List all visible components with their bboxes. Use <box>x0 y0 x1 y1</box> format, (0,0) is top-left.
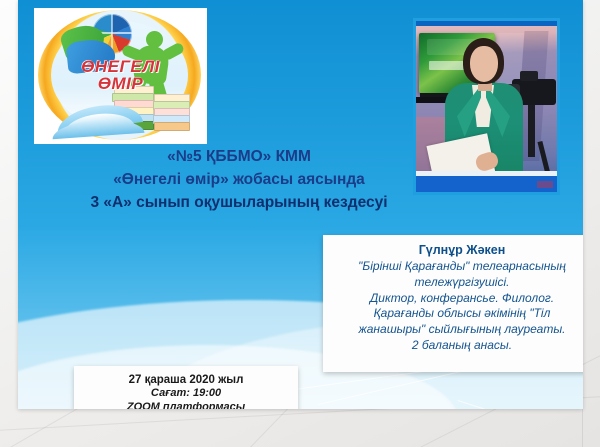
event-date-card: 27 қараша 2020 жыл Сағат: 19:00 ZOOM пла… <box>74 366 298 409</box>
runner-head-icon <box>146 31 163 48</box>
event-date: 27 қараша 2020 жыл <box>74 373 298 387</box>
book-icon <box>154 122 190 131</box>
presenter-bio-line: 2 баланың анасы. <box>331 338 583 354</box>
project-logo: ӨНЕГЕЛІ ӨМІР <box>34 8 207 144</box>
camera-tripod <box>528 105 535 157</box>
presenter-face <box>470 46 498 82</box>
presenter-bio-line: тележүргізушісі. <box>331 275 583 291</box>
presenter-bio-line: Қарағанды облысы әкімінің "Тіл <box>331 306 583 322</box>
presenter-bio-line: жанашыры" сыйлығының лауреаты. <box>331 322 583 338</box>
slide-title: «№5 ҚББМО» КММ «Өнегелі өмір» жобасы аяс… <box>84 146 394 214</box>
photo-bottom-band <box>416 176 557 192</box>
presenter-bio-line: "Бірінші Қарағанды" телеарнасының <box>331 259 583 275</box>
presentation-slide: ӨНЕГЕЛІ ӨМІР <box>18 0 583 409</box>
presenter-info-card: Гүлнұр Жәкен "Бірінші Қарағанды" телеарн… <box>323 235 583 372</box>
presenter-name: Гүлнұр Жәкен <box>331 243 583 257</box>
photo-top-band <box>416 21 557 26</box>
photo-corner-chip <box>537 181 553 188</box>
camera-viewfinder <box>520 71 538 81</box>
title-line-1: «№5 ҚББМО» КММ <box>84 146 394 169</box>
title-line-2: «Өнегелі өмір» жобасы аясында <box>84 169 394 192</box>
event-time: Сағат: 19:00 <box>74 387 298 401</box>
title-line-3: 3 «А» сынып оқушыларының кездесуі <box>84 192 394 215</box>
presenter-bio-line: Диктор, конферансье. Филолог. <box>331 291 583 307</box>
slide-viewer: ӨНЕГЕЛІ ӨМІР <box>0 0 600 447</box>
event-platform: ZOOM платформасы <box>74 401 298 409</box>
presenter-photo <box>413 18 560 195</box>
